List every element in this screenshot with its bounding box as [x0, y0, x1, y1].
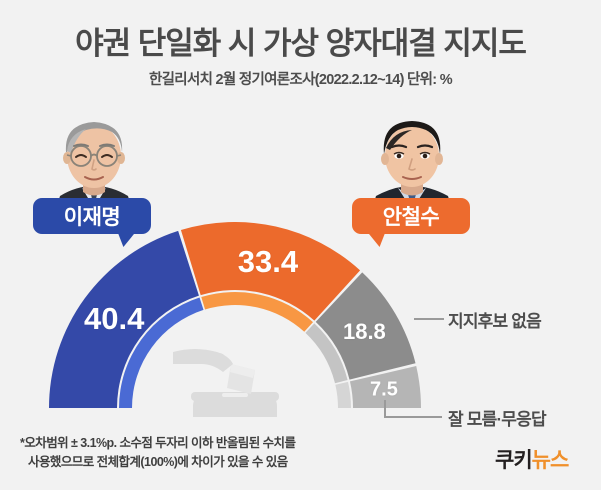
page-subtitle: 한길리서치 2월 정기여론조사(2022.2.12~14) 단위: % [0, 68, 601, 89]
leader-line-none [414, 318, 444, 320]
donut-inner-slice-3 [335, 382, 351, 408]
slice-value-none: 18.8 [343, 319, 386, 345]
footnote: *오차범위 ± 3.1%p. 소수점 두자리 이하 반올림된 수치를 사용했으므… [20, 434, 295, 473]
footnote-line-1: *오차범위 ± 3.1%p. 소수점 두자리 이하 반올림된 수치를 [20, 434, 295, 453]
slice-value-dontknow: 7.5 [370, 379, 398, 402]
infographic-canvas: 야권 단일화 시 가상 양자대결 지지도 한길리서치 2월 정기여론조사(202… [0, 0, 601, 490]
logo-part-1: 쿠키 [495, 449, 532, 472]
footnote-line-2: 사용했으므로 전체합계(100%)에 차이가 있을 수 있음 [20, 453, 295, 472]
page-title: 야권 단일화 시 가상 양자대결 지지도 [0, 18, 601, 63]
kuki-news-logo: 쿠키뉴스 [495, 448, 585, 474]
logo-part-2: 뉴스 [532, 449, 569, 472]
leader-line-dontknow-horz [384, 416, 442, 418]
outside-label-dontknow: 잘 모름·무응답 [448, 405, 546, 430]
ballot-box-icon [173, 349, 279, 417]
half-donut-chart: 40.4 33.4 18.8 7.5 [45, 222, 425, 417]
logo-text: 쿠키뉴스 [495, 448, 585, 474]
outside-label-none: 지지후보 없음 [448, 307, 541, 332]
slice-value-lee: 40.4 [84, 301, 144, 337]
slice-value-ahn: 33.4 [238, 244, 298, 280]
